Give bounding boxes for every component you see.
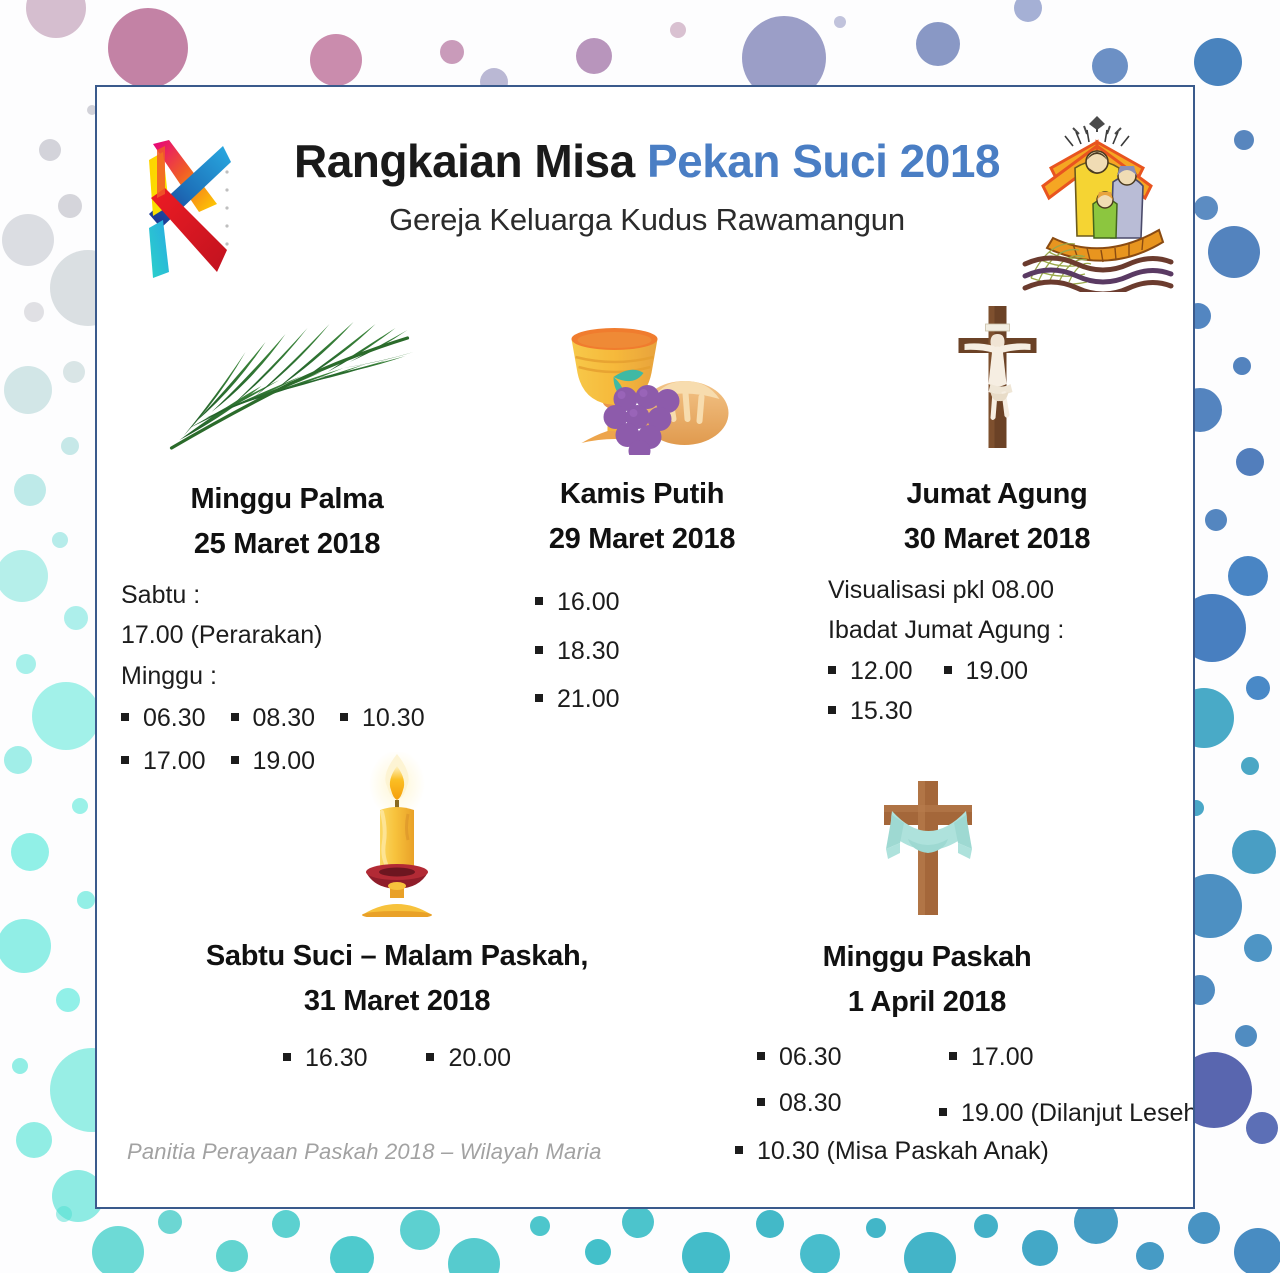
decorative-circle [72, 798, 88, 814]
mass-time: 12.00 [828, 651, 913, 692]
decorative-circle [39, 139, 61, 161]
mass-time: 08.30 [757, 1083, 842, 1124]
poster-panel: Rangkaian Misa Pekan Suci 2018 Gereja Ke… [95, 85, 1195, 1209]
decorative-circle [12, 1058, 28, 1074]
decorative-circle [330, 1236, 374, 1273]
decorative-circle [1188, 1212, 1220, 1244]
decorative-circle [682, 1232, 730, 1273]
decorative-circle [1244, 934, 1272, 962]
mass-time: 10.30 (Misa Paskah Anak) [735, 1131, 1049, 1172]
decorative-circle [16, 654, 36, 674]
decorative-circle [400, 1210, 440, 1250]
event-kamis-putih: Kamis Putih 29 Maret 2018 16.00 18.30 21… [487, 305, 797, 724]
mass-time: 16.30 [283, 1038, 368, 1079]
event-name: Sabtu Suci – Malam Paskah, [206, 940, 588, 972]
event-date: 1 April 2018 [657, 980, 1195, 1025]
event-schedule: 06.30 08.30 10.30 (Misa Paskah Anak) 17.… [657, 1037, 1195, 1177]
mass-time-wrap: 08.30 [757, 1083, 842, 1124]
event-minggu-paskah: Minggu Paskah 1 April 2018 06.30 08.30 1… [657, 777, 1195, 1177]
decorative-circle [916, 22, 960, 66]
decorative-circle [622, 1206, 654, 1238]
decorative-circle [1092, 48, 1128, 84]
poster-header: Rangkaian Misa Pekan Suci 2018 Gereja Ke… [97, 87, 1195, 297]
decorative-circle [1246, 1112, 1278, 1144]
decorative-circle [52, 532, 68, 548]
mass-time: 06.30 [757, 1037, 842, 1078]
mass-time: 15.30 [828, 691, 913, 732]
event-heading: Jumat Agung 30 Maret 2018 [812, 472, 1182, 562]
event-schedule: Visualisasi pkl 08.00 Ibadat Jumat Agung… [812, 570, 1182, 732]
poster-background: Rangkaian Misa Pekan Suci 2018 Gereja Ke… [0, 0, 1280, 1273]
mass-time-wrap: 10.30 (Misa Paskah Anak) [735, 1131, 1049, 1172]
decorative-circle [1194, 38, 1242, 86]
event-heading: Minggu Paskah 1 April 2018 [657, 935, 1195, 1025]
schedule-line: Visualisasi pkl 08.00 [828, 570, 1182, 611]
decorative-circle [108, 8, 188, 88]
decorative-circle [272, 1210, 300, 1238]
event-sabtu-suci: Sabtu Suci – Malam Paskah, 31 Maret 2018… [117, 752, 677, 1078]
event-name: Kamis Putih [560, 478, 724, 510]
decorative-circle [1014, 0, 1042, 22]
decorative-circle [1228, 556, 1268, 596]
decorative-circle [800, 1234, 840, 1273]
decorative-circle [310, 34, 362, 86]
decorative-circle [1233, 357, 1251, 375]
decorative-circle [1234, 130, 1254, 150]
mass-time: 20.00 [426, 1038, 511, 1079]
decorative-circle [448, 1238, 500, 1273]
decorative-circle [530, 1216, 550, 1236]
mass-time-wrap: 06.30 [757, 1037, 842, 1078]
decorative-circle [32, 682, 100, 750]
event-date: 29 Maret 2018 [487, 517, 797, 562]
mass-time: 10.30 [340, 698, 425, 739]
chalice-bread-grapes-icon [550, 305, 735, 455]
decorative-circle [974, 1214, 998, 1238]
decorative-circle [866, 1218, 886, 1238]
mass-time: 18.30 [535, 627, 620, 676]
decorative-circle [63, 361, 85, 383]
page-subtitle: Gereja Keluarga Kudus Rawamangun [247, 202, 1047, 238]
decorative-circle [61, 437, 79, 455]
decorative-circle [1136, 1242, 1164, 1270]
decorative-circle [904, 1232, 956, 1273]
committee-credit: Panitia Perayaan Paskah 2018 – Wilayah M… [127, 1139, 602, 1165]
decorative-circle [216, 1240, 248, 1272]
decorative-circle [77, 891, 95, 909]
decorative-circle [1208, 226, 1260, 278]
decorative-circle [1232, 830, 1276, 874]
decorative-circle [0, 919, 51, 973]
mass-time: 19.00 (Dilanjut Lesehan) [939, 1093, 1195, 1134]
decorative-circle [4, 366, 52, 414]
event-name: Minggu Paskah [823, 941, 1032, 973]
schedule-line: 17.00 (Perarakan) [121, 615, 467, 656]
decorative-circle [1235, 1025, 1257, 1047]
decorative-circle [14, 474, 46, 506]
decorative-circle [56, 988, 80, 1012]
crucifix-icon [945, 300, 1050, 450]
lit-candle-icon [342, 752, 452, 917]
event-date: 31 Maret 2018 [117, 979, 677, 1024]
decorative-circle [92, 1226, 144, 1273]
event-date: 25 Maret 2018 [107, 522, 467, 567]
schedule-line: Sabtu : [121, 575, 467, 616]
schedule-times-row: 18.30 [535, 627, 797, 676]
title-part-2: Pekan Suci 2018 [647, 135, 1000, 187]
decorative-circle [58, 194, 82, 218]
event-name: Jumat Agung [907, 478, 1088, 510]
mass-time: 17.00 [949, 1037, 1034, 1078]
event-heading: Kamis Putih 29 Maret 2018 [487, 472, 797, 562]
schedule-times-row: 06.30 08.30 10.30 [121, 698, 467, 739]
mass-time: 21.00 [535, 675, 620, 724]
schedule-times-row: 15.30 [828, 691, 1182, 732]
decorative-circle [64, 606, 88, 630]
parish-holy-family-boat-emblem [1017, 112, 1177, 292]
decorative-circle [158, 1210, 182, 1234]
decorative-circle [1194, 196, 1218, 220]
mass-time: 16.00 [535, 578, 620, 627]
event-jumat-agung: Jumat Agung 30 Maret 2018 Visualisasi pk… [812, 300, 1182, 732]
mass-time: 06.30 [121, 698, 206, 739]
decorative-circle [585, 1239, 611, 1265]
event-date: 30 Maret 2018 [812, 517, 1182, 562]
title-block: Rangkaian Misa Pekan Suci 2018 Gereja Ke… [247, 137, 1047, 238]
mass-time-wrap: 19.00 (Dilanjut Lesehan) [939, 1093, 1195, 1134]
palm-branch-icon [150, 302, 425, 462]
decorative-circle [834, 16, 846, 28]
schedule-times-row: 21.00 [535, 675, 797, 724]
event-schedule: 16.00 18.30 21.00 [487, 578, 797, 724]
decorative-circle [24, 302, 44, 322]
decorative-circle [576, 38, 612, 74]
event-schedule: 16.30 20.00 [117, 1038, 677, 1079]
decorative-circle [670, 22, 686, 38]
decorative-circle [1236, 448, 1264, 476]
event-name: Minggu Palma [191, 483, 384, 515]
draped-cross-icon [862, 777, 992, 917]
event-heading: Minggu Palma 25 Maret 2018 [107, 477, 467, 567]
mass-time: 08.30 [231, 698, 316, 739]
schedule-times-row: 16.00 [535, 578, 797, 627]
decorative-circle [0, 550, 48, 602]
decorative-circle [756, 1210, 784, 1238]
decorative-circle [440, 40, 464, 64]
decorative-circle [1022, 1230, 1058, 1266]
decorative-circle [16, 1122, 52, 1158]
decorative-circle [56, 1206, 72, 1222]
decorative-circle [4, 746, 32, 774]
decorative-circle [11, 833, 49, 871]
decorative-circle [2, 214, 54, 266]
decorative-circle [26, 0, 86, 38]
decorative-circle [1234, 1228, 1280, 1273]
schedule-line: Ibadat Jumat Agung : [828, 610, 1182, 651]
decorative-circle [1241, 757, 1259, 775]
event-minggu-palma: Minggu Palma 25 Maret 2018 Sabtu : 17.00… [107, 302, 467, 781]
page-title: Rangkaian Misa Pekan Suci 2018 [247, 137, 1047, 186]
schedule-times-row: 12.00 19.00 [828, 651, 1182, 692]
mass-time-wrap: 17.00 [949, 1037, 1034, 1078]
title-part-1: Rangkaian Misa [294, 135, 647, 187]
event-schedule: Sabtu : 17.00 (Perarakan) Minggu : 06.30… [107, 575, 467, 782]
mass-time: 19.00 [944, 651, 1029, 692]
schedule-line: Minggu : [121, 656, 467, 697]
decorative-circle [1205, 509, 1227, 531]
ribbon-k-logo [135, 132, 231, 282]
event-heading: Sabtu Suci – Malam Paskah, 31 Maret 2018 [117, 934, 677, 1024]
decorative-circle [1246, 676, 1270, 700]
